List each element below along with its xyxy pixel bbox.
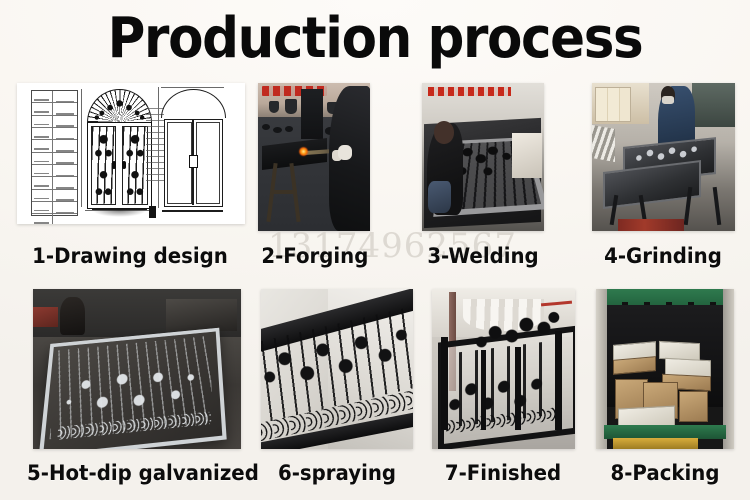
glowing-hot-iron <box>299 147 308 156</box>
step-label-packing: 8-Packing <box>596 461 733 485</box>
cad-spec-table <box>31 90 79 216</box>
step-label-spraying: 6-spraying <box>266 461 409 485</box>
production-process-infographic: Production process <box>0 0 750 500</box>
step-image-drawing-design[interactable] <box>17 83 245 224</box>
step-image-forging[interactable] <box>258 83 370 231</box>
face-mask <box>662 96 673 103</box>
step-label-forging: 2-Forging <box>261 244 366 268</box>
worker-glove <box>338 145 353 160</box>
cad-plan-detail <box>92 209 147 217</box>
step-image-spraying[interactable] <box>261 289 413 449</box>
step-label-drawing-design: 1-Drawing design <box>17 244 243 268</box>
worker-silhouette <box>60 297 85 335</box>
banner-text-overlay <box>428 87 511 96</box>
step-image-grinding[interactable] <box>592 83 735 231</box>
step-image-finished[interactable] <box>432 289 575 449</box>
step-image-packing[interactable] <box>596 289 734 449</box>
step-label-finished: 7-Finished <box>433 461 574 485</box>
cad-section-view <box>161 89 225 207</box>
step-label-hot-dip-galvanized: 5-Hot-dip galvanized <box>27 461 248 485</box>
cad-door-elevation <box>85 89 151 207</box>
page-title: Production process <box>30 8 720 70</box>
step-image-welding[interactable] <box>422 83 544 231</box>
cad-post-detail <box>149 206 156 219</box>
step-label-welding: 3-Welding <box>422 244 544 268</box>
step-label-grinding: 4-Grinding <box>593 244 734 268</box>
step-image-hot-dip-galvanized[interactable] <box>33 289 241 449</box>
